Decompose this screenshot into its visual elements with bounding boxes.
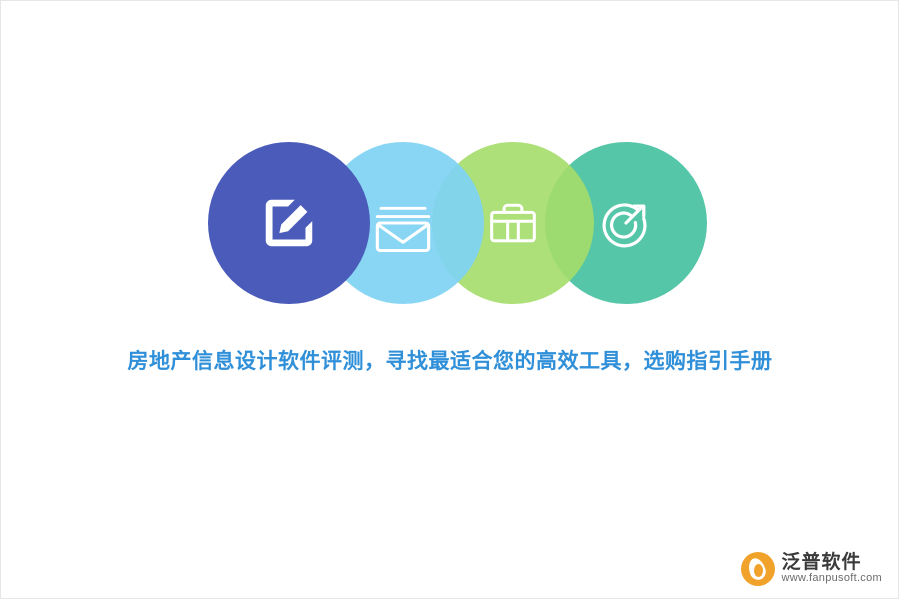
briefcase-icon [481,191,545,255]
brand-url: www.fanpusoft.com [782,573,882,585]
pencil-square-icon [258,192,320,254]
page-title: 房地产信息设计软件评测，寻找最适合您的高效工具，选购指引手册 [0,345,900,375]
watermark: 泛普软件 www.fanpusoft.com [741,552,882,586]
envelope-icon [370,190,436,256]
target-arrow-icon [594,191,658,255]
icon-circle-group [0,142,900,304]
brand-name: 泛普软件 [782,553,882,573]
watermark-text: 泛普软件 www.fanpusoft.com [782,553,882,584]
brand-logo-icon [741,552,775,586]
circle-edit-pen [208,142,370,304]
